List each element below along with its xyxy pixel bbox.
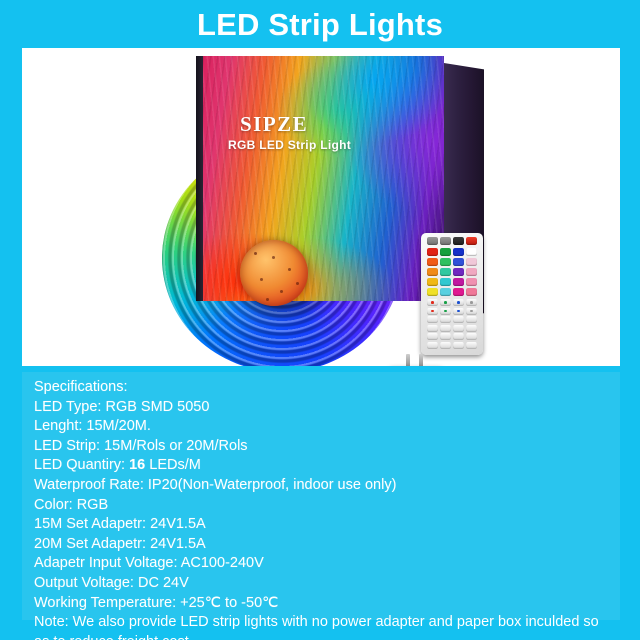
remote-color-key-7 [466,258,477,266]
remote-fn-key-diy1 [466,325,477,332]
remote-fn-key-jump3 [427,342,438,349]
spec-led-quantity: LED Quantiry: 16 LEDs/M [34,456,610,476]
remote-fn-key-smooth [453,325,464,332]
adapter-plug-prongs [404,354,426,366]
spec-length: Lenght: 15M/20M. [34,417,610,437]
remote-color-key-2 [453,248,464,256]
remote-color-key-3 [466,248,477,256]
spec-waterproof-rate: Waterproof Rate: IP20(Non-Waterproof, in… [34,476,610,496]
remote-color-key-8 [427,268,438,276]
box-front-face [196,56,444,301]
remote-color-key-4 [427,258,438,266]
page-title: LED Strip Lights [0,6,640,44]
remote-fn-key-diy5 [466,333,477,340]
remote-function-grid [424,299,480,349]
product-photo-panel: IP20 SIPZE RGB LED Strip Light [22,48,620,366]
remote-color-key-14 [453,278,464,286]
spec-heading: Specifications: [34,378,610,398]
remote-color-key-1 [440,248,451,256]
remote-fn-key-quick [427,316,438,323]
remote-color-grid [424,248,480,296]
spec-note: Note: We also provide LED strip lights w… [34,613,610,640]
spec-input-voltage: Adapetr Input Voltage: AC100-240V [34,554,610,574]
spec-quantity-label: LED Quantiry: [34,457,129,473]
box-left-edge [196,56,203,301]
product-image-page: LED Strip Lights IP20 SIPZE RGB LED Stri… [0,0,640,640]
spec-quantity-unit: LEDs/M [145,457,201,473]
remote-fn-key-diy3 [440,333,451,340]
specifications-panel: Specifications: LED Type: RGB SMD 5050 L… [22,372,620,620]
spec-led-type: LED Type: RGB SMD 5050 [34,398,610,418]
brand-subtitle: RGB LED Strip Light [228,138,351,152]
spec-20m-adapter: 20M Set Adapetr: 24V1.5A [34,535,610,555]
remote-color-key-12 [427,278,438,286]
remote-fn-key-w [466,299,477,306]
brightness-down-icon [440,237,451,245]
play-pause-icon [453,237,464,245]
remote-fn-key-w [466,308,477,315]
remote-control [421,233,483,355]
remote-color-key-0 [427,248,438,256]
remote-top-row [424,237,480,245]
remote-fn-key-diy2 [427,333,438,340]
remote-fn-key-g-minus [440,308,451,315]
remote-color-key-6 [453,258,464,266]
brand-name: SIPZE [240,112,308,137]
remote-color-key-16 [427,288,438,296]
spec-color: Color: RGB [34,496,610,516]
brightness-up-icon [427,237,438,245]
remote-fn-key-fade7 [466,342,477,349]
remote-color-key-17 [440,288,451,296]
spec-led-strip: LED Strip: 15M/Rols or 20M/Rols [34,437,610,457]
remote-fn-key-b-minus [453,308,464,315]
remote-color-key-13 [440,278,451,286]
remote-fn-key-strobe [453,316,464,323]
spec-quantity-value: 16 [129,457,145,473]
remote-color-key-11 [466,268,477,276]
remote-color-key-18 [453,288,464,296]
remote-fn-key-fade [466,316,477,323]
coil-center-hub [240,240,308,306]
spec-working-temperature: Working Temperature: +25℃ to -50℃ [34,594,610,614]
remote-fn-key-g-minusplus [440,299,451,306]
remote-fn-key-r-minusplus [427,299,438,306]
remote-fn-key-r-minus [427,308,438,315]
remote-color-key-10 [453,268,464,276]
remote-fn-key-fade3 [453,342,464,349]
spec-output-voltage: Output Voltage: DC 24V [34,574,610,594]
power-icon [466,237,477,245]
remote-color-key-19 [466,288,477,296]
remote-color-key-5 [440,258,451,266]
remote-fn-key-b-minusplus [453,299,464,306]
remote-fn-key-auto [440,325,451,332]
spec-15m-adapter: 15M Set Adapetr: 24V1.5A [34,515,610,535]
remote-fn-key-slow [427,325,438,332]
remote-fn-key-flash [440,316,451,323]
remote-color-key-15 [466,278,477,286]
remote-fn-key-diy4 [453,333,464,340]
remote-fn-key-jump7 [440,342,451,349]
remote-color-key-9 [440,268,451,276]
